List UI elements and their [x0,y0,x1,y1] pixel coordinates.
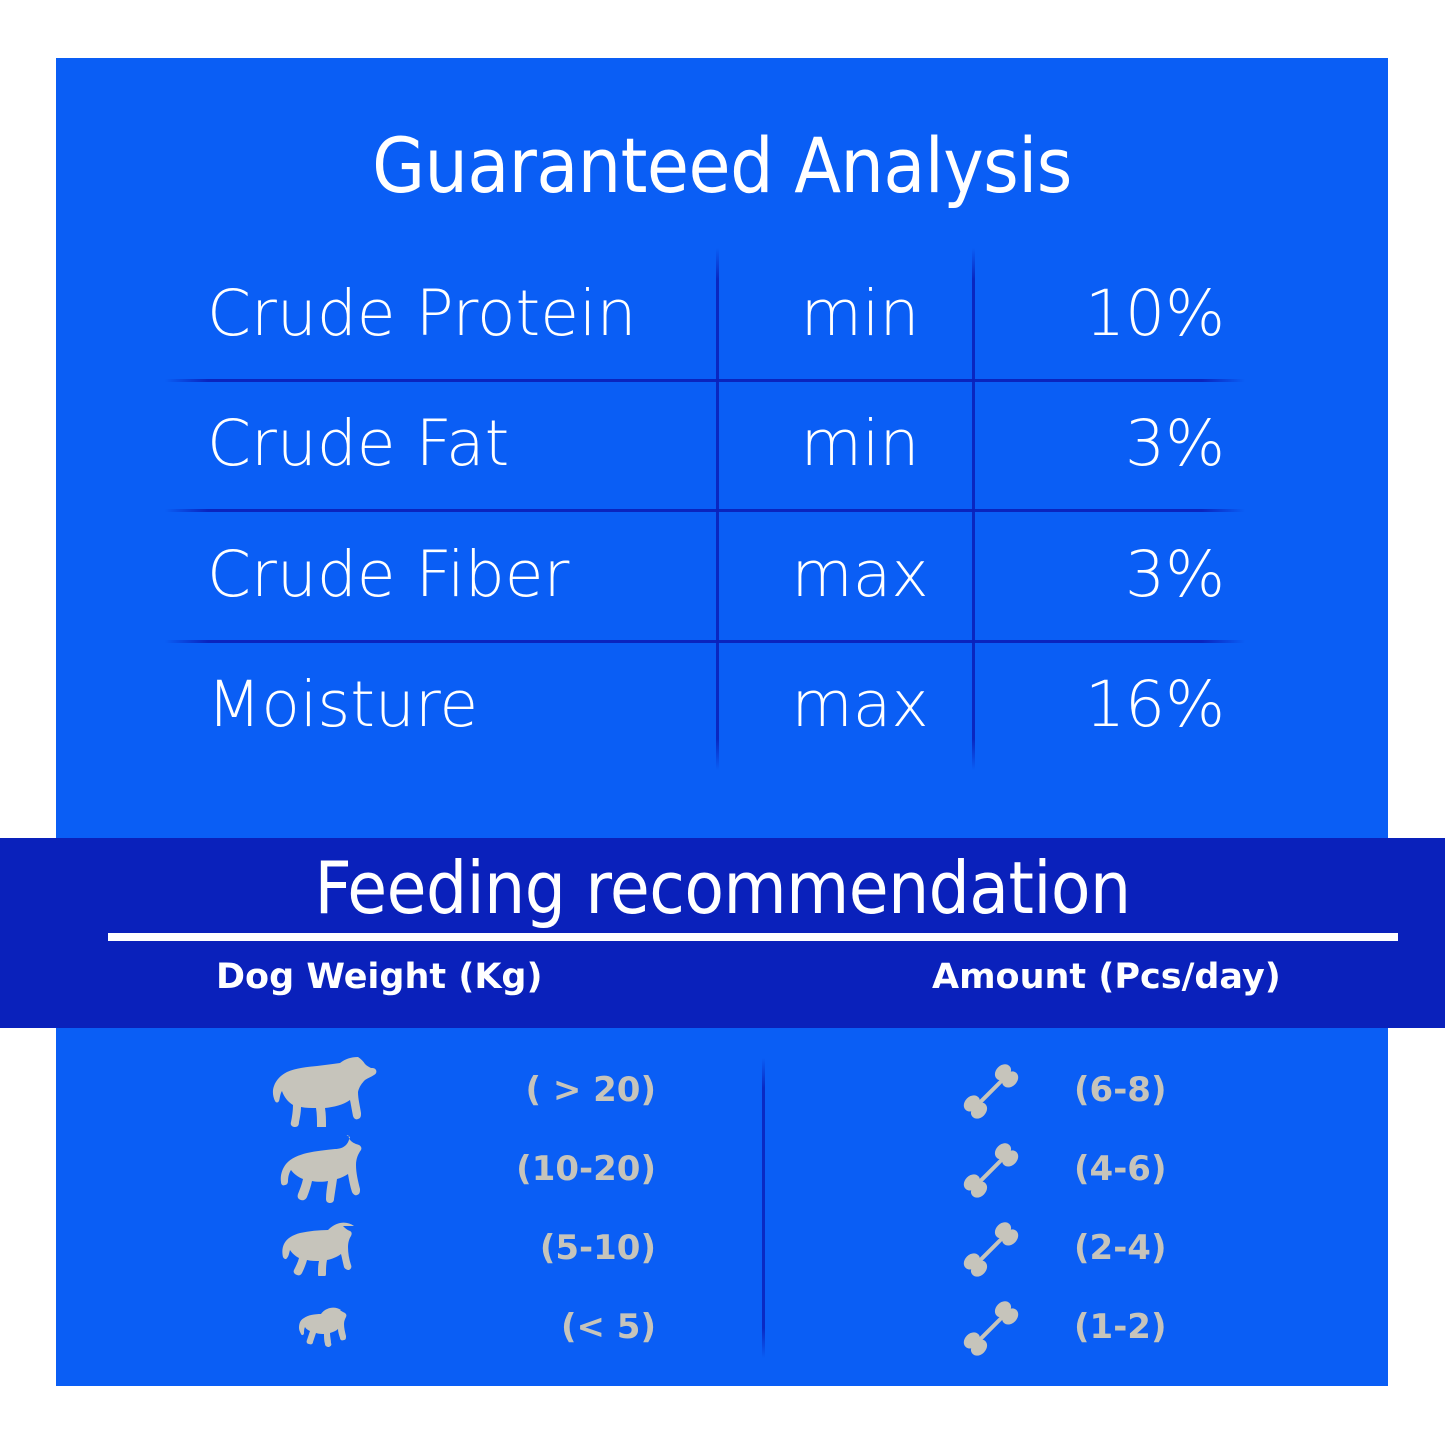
bone-icon [936,1050,1046,1129]
nutrient-name: Crude Fat [207,379,717,510]
guaranteed-analysis-table: Crude Protein min 10% Crude Fat min 3% C… [165,248,1245,770]
nutrient-limit: min [735,248,985,379]
weight-range-label: (< 5) [396,1310,656,1344]
table-column-divider [972,248,975,770]
bone-icon [936,1129,1046,1208]
list-item: (5-10) [256,1208,656,1287]
feeding-recommendation-banner: Feeding recommendation Dog Weight (Kg) A… [0,838,1445,1028]
dog-tiny-icon [256,1287,396,1366]
nutrient-limit: min [735,379,985,510]
amount-range-label: (1-2) [1046,1310,1246,1344]
nutrient-value: 3% [995,379,1245,510]
table-row: Crude Fiber max 3% [165,509,1245,640]
amount-range-label: (4-6) [1046,1152,1246,1186]
table-row: Crude Fat min 3% [165,379,1245,510]
dog-weight-column: ( > 20) (10-20) (5-10) [256,1028,656,1386]
bone-icon [936,1287,1046,1366]
amount-header: Amount (Pcs/day) [932,960,1281,995]
feeding-recommendation-body: ( > 20) (10-20) (5-10) [56,1028,1388,1386]
page-title: Guaranteed Analysis [56,128,1388,204]
weight-range-label: ( > 20) [396,1073,656,1107]
nutrient-value: 3% [995,509,1245,640]
list-item: (6-8) [936,1050,1246,1129]
list-item: (10-20) [256,1129,656,1208]
dog-weight-header: Dog Weight (Kg) [216,960,542,995]
nutrient-value: 10% [995,248,1245,379]
weight-range-label: (10-20) [396,1152,656,1186]
list-item: (2-4) [936,1208,1246,1287]
table-row: Crude Protein min 10% [165,248,1245,379]
amount-range-label: (6-8) [1046,1073,1246,1107]
nutrient-name: Crude Protein [207,248,717,379]
feeding-column-divider [762,1058,765,1358]
feeding-column-headers: Dog Weight (Kg) Amount (Pcs/day) [0,960,1445,1010]
nutrient-name: Crude Fiber [207,509,717,640]
table-row: Moisture max 16% [165,640,1245,771]
dog-small-icon [256,1208,396,1287]
nutrient-limit: max [735,509,985,640]
feeding-title: Feeding recommendation [0,852,1445,924]
list-item: (< 5) [256,1287,656,1366]
dog-large-icon [256,1050,396,1129]
list-item: (4-6) [936,1129,1246,1208]
bone-icon [936,1208,1046,1287]
nutrient-limit: max [735,640,985,771]
nutrient-name: Moisture [207,640,717,771]
nutrient-value: 16% [995,640,1245,771]
list-item: ( > 20) [256,1050,656,1129]
pet-food-label: Guaranteed Analysis Crude Protein min 10… [0,0,1445,1444]
table-column-divider [716,248,719,770]
amount-range-label: (2-4) [1046,1231,1246,1265]
weight-range-label: (5-10) [396,1231,656,1265]
amount-column: (6-8) (4-6) [936,1028,1246,1386]
banner-divider [108,933,1398,941]
dog-medium-icon [256,1129,396,1208]
list-item: (1-2) [936,1287,1246,1366]
